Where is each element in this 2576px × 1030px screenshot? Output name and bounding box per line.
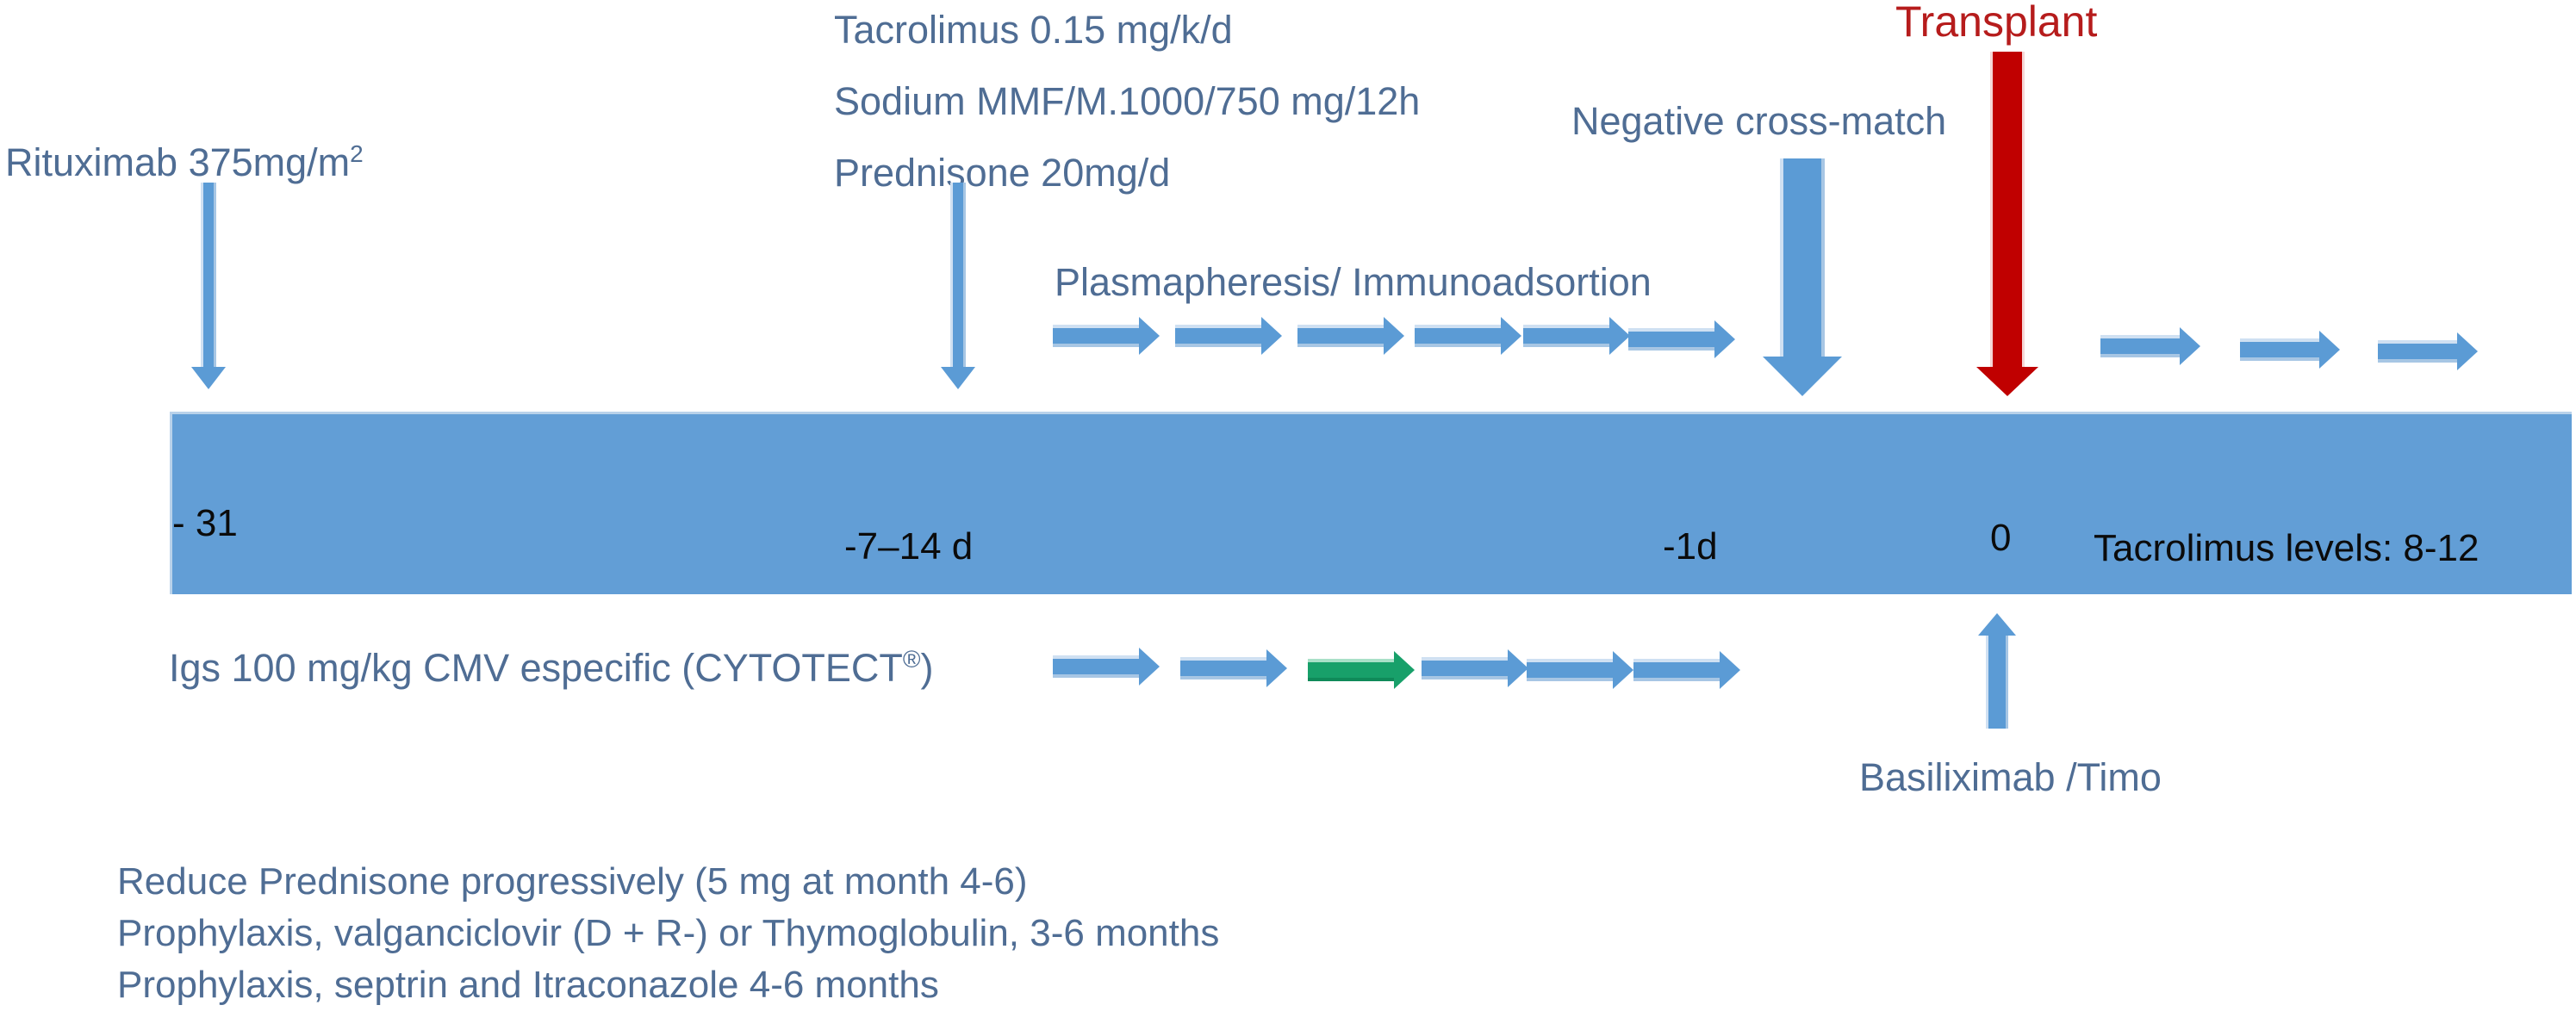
label-rituximab: Rituximab 375mg/m2 bbox=[5, 142, 364, 182]
cytotect-arrow-6 bbox=[1633, 651, 1740, 689]
footnote-line-2: Prophylaxis, valganciclovir (D + R-) or … bbox=[117, 915, 1219, 952]
cytotect-arrow-2 bbox=[1180, 649, 1287, 687]
label-tacrolimus: Tacrolimus 0.15 mg/k/d bbox=[834, 10, 1233, 49]
arrow-bar bbox=[2240, 338, 2321, 361]
basiliximab-up-arrow bbox=[1975, 613, 2019, 734]
timeline-mark-tacrolimus-levels: Tacrolimus levels: 8-12 bbox=[2094, 530, 2480, 568]
cytotect-arrow-3-green bbox=[1308, 651, 1415, 689]
label-rituximab-text: Rituximab 375mg/m bbox=[5, 140, 350, 184]
timeline-mark-day-minus-7-14: -7–14 d bbox=[844, 528, 973, 566]
cytotect-arrow-4 bbox=[1422, 649, 1528, 687]
arrow-head-right-icon bbox=[1720, 651, 1740, 689]
arrow-head-down-icon bbox=[1976, 367, 2038, 396]
arrow-bar bbox=[1053, 655, 1139, 678]
arrow-head-right-icon bbox=[1613, 651, 1633, 689]
plasmapheresis-arrow-1 bbox=[1053, 317, 1160, 355]
footnote-line-1: Reduce Prednisone progressively (5 mg at… bbox=[117, 863, 1028, 901]
arrow-head-right-icon bbox=[2319, 331, 2340, 369]
arrow-bar bbox=[1053, 325, 1139, 347]
arrow-head-right-icon bbox=[1139, 317, 1160, 355]
arrow-bar bbox=[1180, 657, 1266, 679]
prednisone-down-arrow bbox=[941, 183, 975, 389]
post-transplant-arrow-3 bbox=[2378, 332, 2478, 370]
arrow-bar bbox=[1523, 325, 1609, 347]
arrow-head-right-icon bbox=[1394, 651, 1415, 689]
timeline-mark-day-minus-1: -1d bbox=[1663, 528, 1718, 566]
arrow-shaft bbox=[1986, 636, 2008, 729]
arrow-head-down-icon bbox=[941, 367, 975, 389]
timeline-bar: - 31 -7–14 d -1d 0 Tacrolimus levels: 8-… bbox=[170, 412, 2572, 594]
arrow-bar bbox=[1297, 325, 1384, 347]
diagram-canvas: Rituximab 375mg/m2 Tacrolimus 0.15 mg/k/… bbox=[0, 0, 2576, 1030]
plasmapheresis-arrow-6 bbox=[1628, 320, 1735, 358]
arrow-shaft bbox=[1990, 52, 2025, 367]
label-plasmapheresis: Plasmapheresis/ Immunoadsortion bbox=[1055, 263, 1652, 301]
arrow-bar bbox=[1308, 659, 1394, 681]
rituximab-down-arrow bbox=[191, 183, 226, 389]
arrow-head-up-icon bbox=[1978, 613, 2016, 636]
footnote-line-3: Prophylaxis, septrin and Itraconazole 4-… bbox=[117, 966, 939, 1004]
arrow-head-right-icon bbox=[1266, 649, 1287, 687]
arrow-bar bbox=[2100, 335, 2181, 357]
arrow-shaft bbox=[950, 183, 966, 367]
arrow-head-right-icon bbox=[2180, 327, 2200, 365]
arrow-shaft bbox=[1780, 158, 1825, 357]
arrow-head-right-icon bbox=[1714, 320, 1735, 358]
arrow-bar bbox=[1527, 659, 1613, 681]
arrow-head-right-icon bbox=[1609, 317, 1630, 355]
plasmapheresis-arrow-3 bbox=[1297, 317, 1404, 355]
label-basiliximab: Basiliximab /Timo bbox=[1859, 758, 2162, 797]
post-transplant-arrow-2 bbox=[2240, 331, 2340, 369]
label-negative-cross-match: Negative cross-match bbox=[1571, 102, 1946, 140]
arrow-shaft bbox=[201, 183, 216, 367]
arrow-bar bbox=[2378, 340, 2459, 363]
label-transplant: Transplant bbox=[1895, 0, 2097, 43]
plasmapheresis-arrow-4 bbox=[1415, 317, 1521, 355]
cytotect-arrow-5 bbox=[1527, 651, 1633, 689]
label-rituximab-superscript: 2 bbox=[350, 140, 364, 167]
arrow-head-right-icon bbox=[1508, 649, 1528, 687]
post-transplant-arrow-1 bbox=[2100, 327, 2200, 365]
arrow-bar bbox=[1422, 657, 1508, 679]
arrow-head-down-icon bbox=[1763, 357, 1842, 396]
arrow-bar bbox=[1628, 328, 1714, 351]
arrow-head-right-icon bbox=[1384, 317, 1404, 355]
negative-cross-match-down-arrow bbox=[1763, 158, 1842, 396]
timeline-mark-day-minus-31: - 31 bbox=[172, 505, 238, 543]
arrow-bar bbox=[1415, 325, 1501, 347]
arrow-head-right-icon bbox=[1501, 317, 1521, 355]
label-sodium-mmf: Sodium MMF/M.1000/750 mg/12h bbox=[834, 82, 1420, 121]
label-cytotect-text: Igs 100 mg/kg CMV especific (CYTOTECT bbox=[169, 646, 903, 690]
plasmapheresis-arrow-5 bbox=[1523, 317, 1630, 355]
transplant-down-arrow bbox=[1976, 52, 2038, 396]
label-cytotect-registered-icon: ® bbox=[903, 646, 921, 673]
timeline-mark-day-zero: 0 bbox=[1990, 519, 2011, 557]
arrow-head-down-icon bbox=[191, 367, 226, 389]
label-cytotect: Igs 100 mg/kg CMV especific (CYTOTECT®) bbox=[169, 648, 934, 687]
arrow-head-right-icon bbox=[1261, 317, 1282, 355]
cytotect-arrow-1 bbox=[1053, 648, 1160, 686]
arrow-bar bbox=[1175, 325, 1261, 347]
arrow-head-right-icon bbox=[2457, 332, 2478, 370]
label-prednisone: Prednisone 20mg/d bbox=[834, 153, 1170, 192]
plasmapheresis-arrow-2 bbox=[1175, 317, 1282, 355]
label-cytotect-close-paren: ) bbox=[921, 646, 934, 690]
arrow-head-right-icon bbox=[1139, 648, 1160, 686]
arrow-bar bbox=[1633, 659, 1720, 681]
